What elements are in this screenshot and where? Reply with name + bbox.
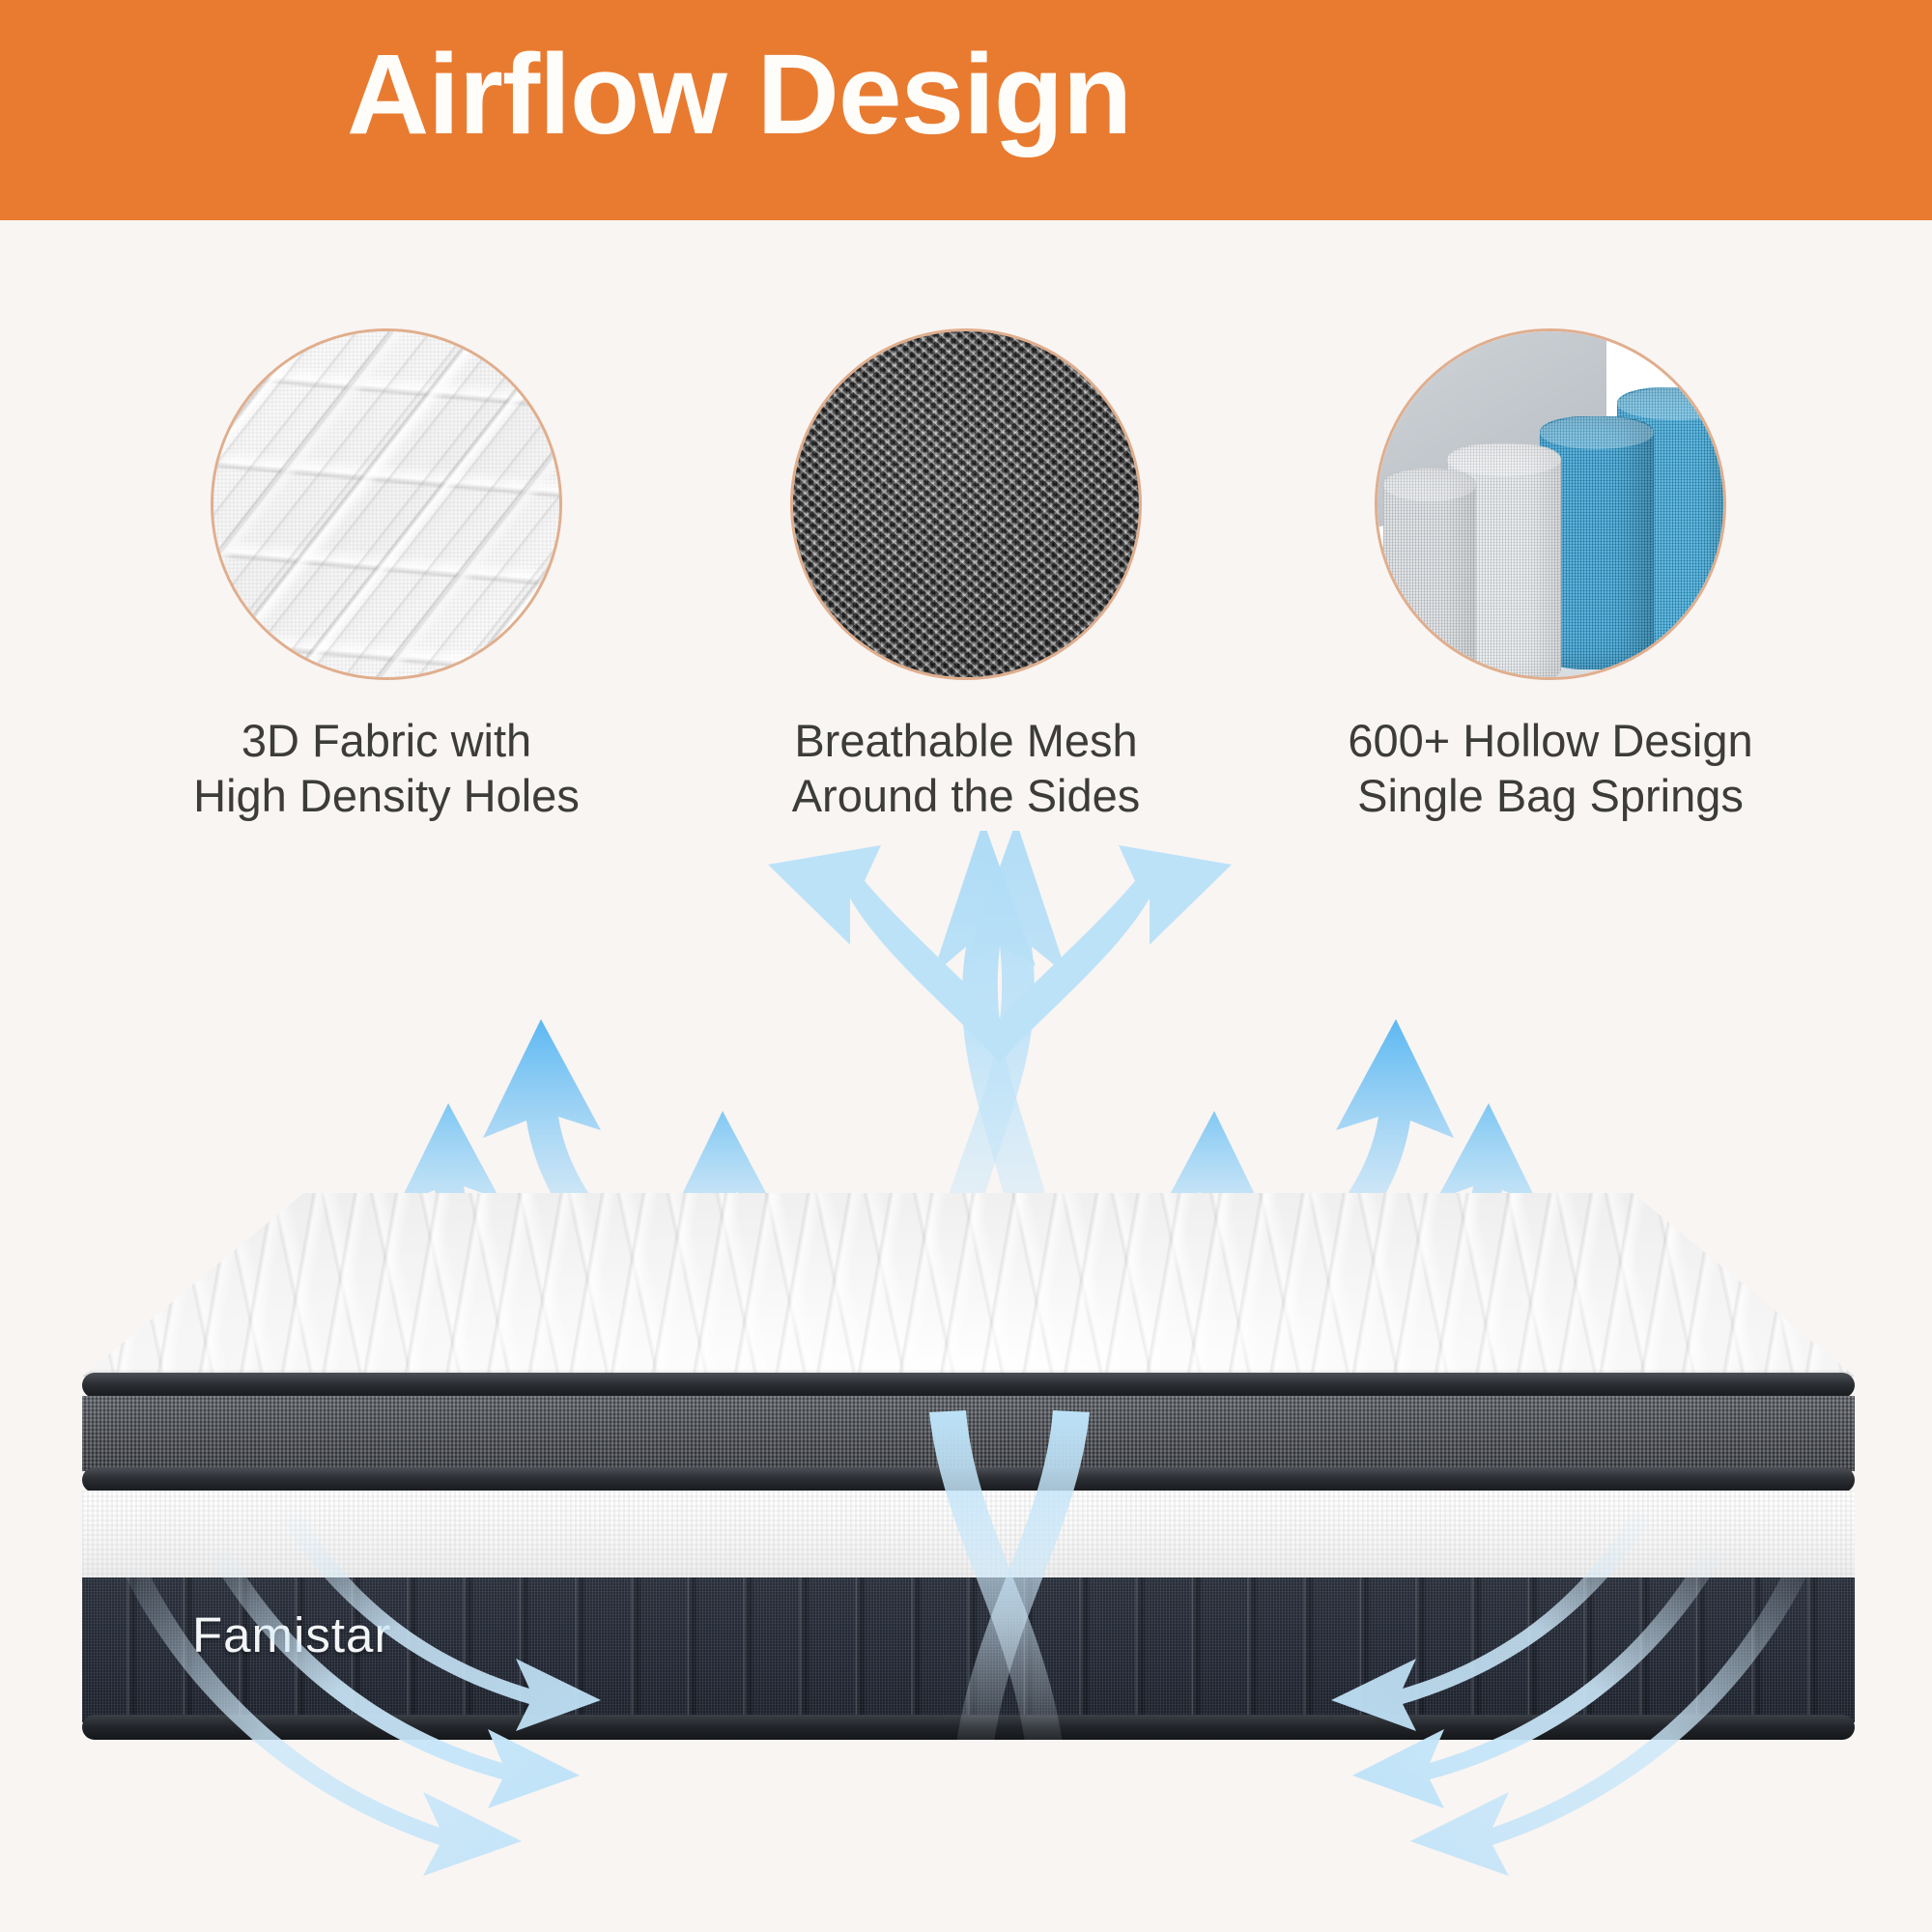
bottom-right-sweeping-arrows [1331, 1512, 1808, 1876]
feature-item-breathable-mesh: Breathable Mesh Around the Sides [667, 328, 1265, 824]
pocket-springs-circle-icon [1375, 328, 1726, 680]
quilted-fabric-circle-icon [211, 328, 562, 680]
feature-row: 3D Fabric with High Density Holes Breath… [0, 328, 1932, 811]
airflow-arrows-front [0, 831, 1932, 1932]
spring-coil-white-front [1383, 469, 1476, 679]
bottom-center-crossing-streams [929, 1410, 1090, 1748]
bottom-left-sweeping-arrows [124, 1512, 601, 1876]
feature-caption-pocket-springs: 600+ Hollow Design Single Bag Springs [1251, 713, 1850, 824]
feature-item-3d-fabric: 3D Fabric with High Density Holes [87, 328, 686, 824]
breathable-mesh-circle-icon [790, 328, 1142, 680]
header-banner: Airflow Design [0, 0, 1932, 220]
infographic-page: Airflow Design 3D Fabric with High Densi… [0, 0, 1932, 1932]
page-title: Airflow Design [0, 27, 1478, 164]
quilted-fabric-texture [211, 328, 562, 680]
feature-caption-breathable-mesh: Breathable Mesh Around the Sides [667, 713, 1265, 824]
mesh-texture [790, 328, 1142, 680]
airflow-mattress-stage: Famistar [0, 831, 1932, 1932]
springs-scene [1378, 331, 1723, 677]
feature-caption-3d-fabric: 3D Fabric with High Density Holes [87, 713, 686, 824]
feature-item-pocket-springs: 600+ Hollow Design Single Bag Springs [1251, 328, 1850, 824]
